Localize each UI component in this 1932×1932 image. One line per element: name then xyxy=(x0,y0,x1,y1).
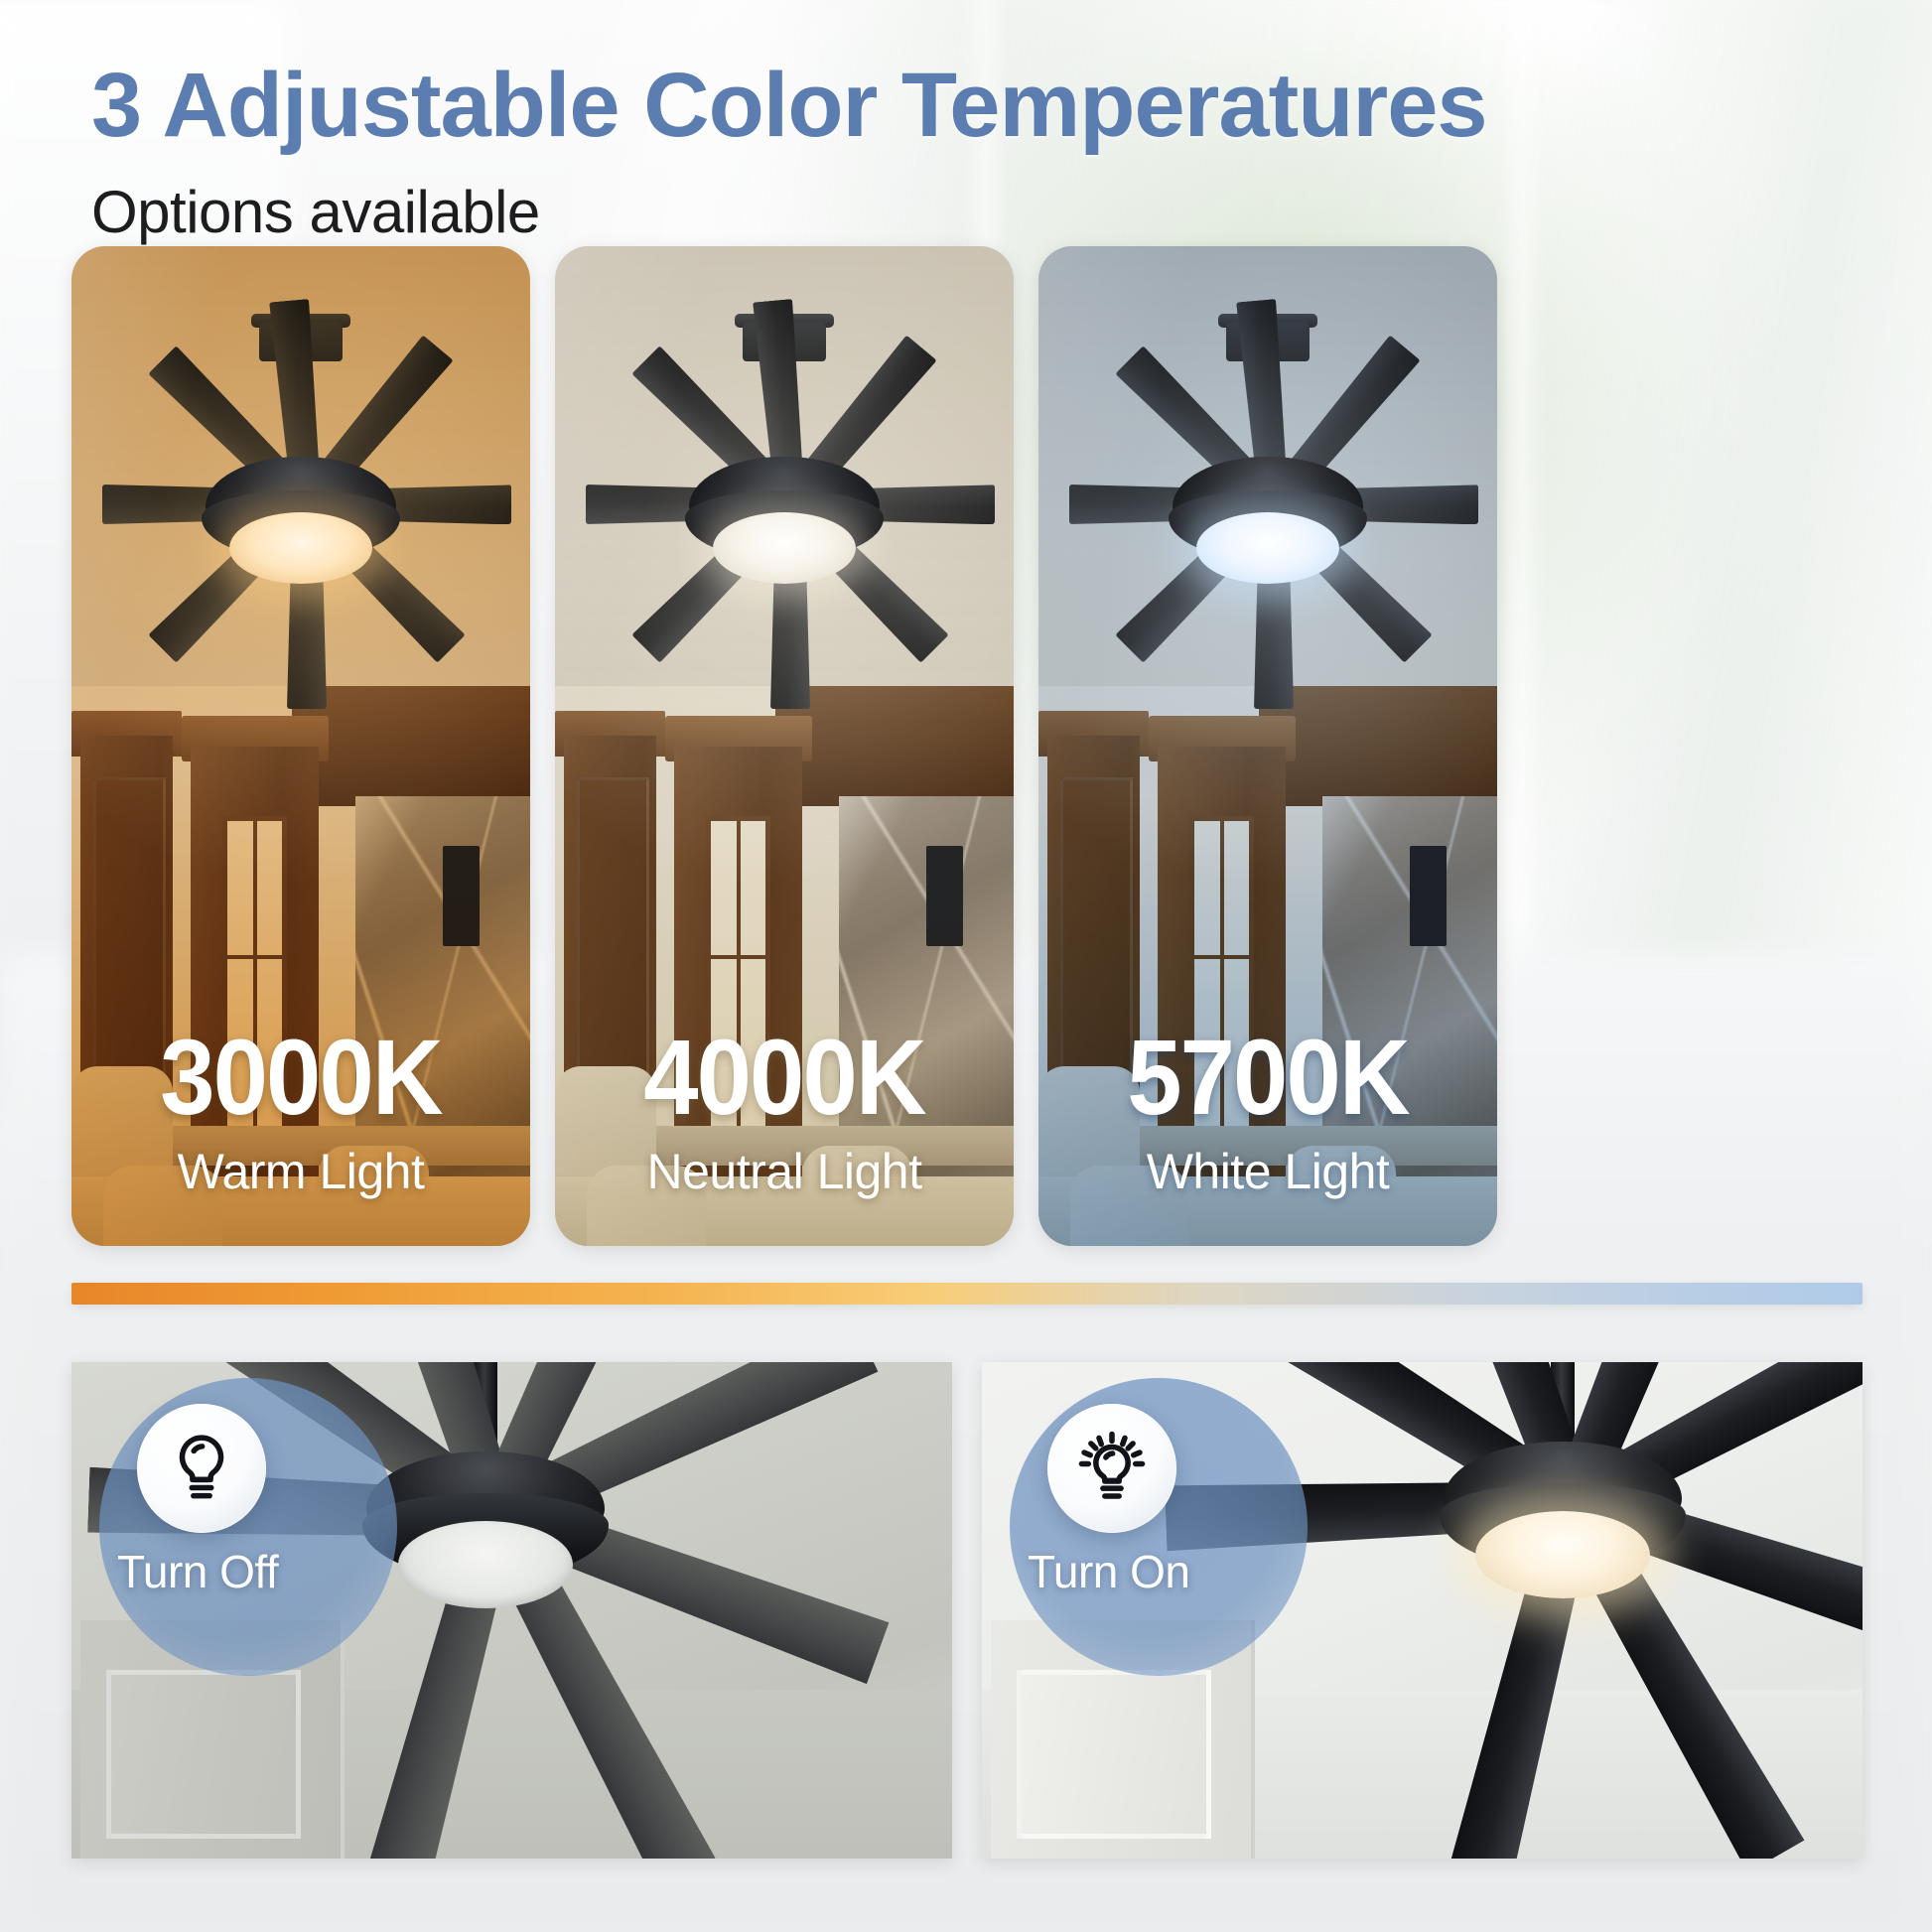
fan-light-lens xyxy=(229,512,372,584)
color-temperature-card-3000k[interactable]: 3000K Warm Light xyxy=(71,246,530,1246)
wall-panel xyxy=(443,846,480,946)
wall-panel xyxy=(1410,846,1447,946)
demo-panel-turn-off[interactable]: Turn Off xyxy=(71,1362,952,1859)
color-temperature-card-4000k[interactable]: 4000K Neutral Light xyxy=(555,246,1014,1246)
fan-light-lens xyxy=(1196,512,1339,584)
demo-panel-turn-on[interactable]: Turn On xyxy=(982,1362,1863,1859)
kelvin-value: 4000K xyxy=(573,1024,995,1131)
light-name: Warm Light xyxy=(71,1143,530,1200)
kelvin-value: 5700K xyxy=(1056,1024,1478,1131)
fan-light-lens xyxy=(713,512,856,584)
demo-panel-list: Turn Off xyxy=(71,1362,1863,1859)
card-caption: 3000K Warm Light xyxy=(71,1024,530,1200)
badge-disc xyxy=(1010,1378,1308,1676)
turn-off-label: Turn Off xyxy=(117,1545,385,1598)
fan-light-lens xyxy=(1475,1511,1650,1598)
turn-on-label: Turn On xyxy=(1028,1545,1296,1598)
light-name: White Light xyxy=(1038,1143,1497,1200)
door-panel xyxy=(106,1670,300,1839)
card-caption: 5700K White Light xyxy=(1038,1024,1497,1200)
turn-on-badge[interactable]: Turn On xyxy=(1010,1378,1308,1676)
kelvin-value: 3000K xyxy=(89,1024,511,1131)
page-subtitle: Options available xyxy=(91,178,1779,246)
lightbulb-off-icon xyxy=(163,1430,240,1507)
badge-disc xyxy=(99,1378,397,1676)
color-temperature-card-5700k[interactable]: 5700K White Light xyxy=(1038,246,1497,1246)
wall-panel xyxy=(926,846,963,946)
turn-off-button[interactable] xyxy=(137,1404,266,1533)
turn-off-badge[interactable]: Turn Off xyxy=(99,1378,397,1676)
turn-on-button[interactable] xyxy=(1047,1404,1176,1533)
card-caption: 4000K Neutral Light xyxy=(555,1024,1014,1200)
page-title: 3 Adjustable Color Temperatures xyxy=(91,58,1779,154)
gradient-divider xyxy=(71,1283,1863,1305)
fan-light-lens xyxy=(398,1521,573,1608)
color-temperature-card-list: 3000K Warm Light xyxy=(71,246,1499,1246)
lightbulb-on-icon xyxy=(1073,1430,1151,1507)
header-block: 3 Adjustable Color Temperatures Options … xyxy=(91,58,1779,246)
light-name: Neutral Light xyxy=(555,1143,1014,1200)
door-panel xyxy=(1017,1670,1210,1839)
